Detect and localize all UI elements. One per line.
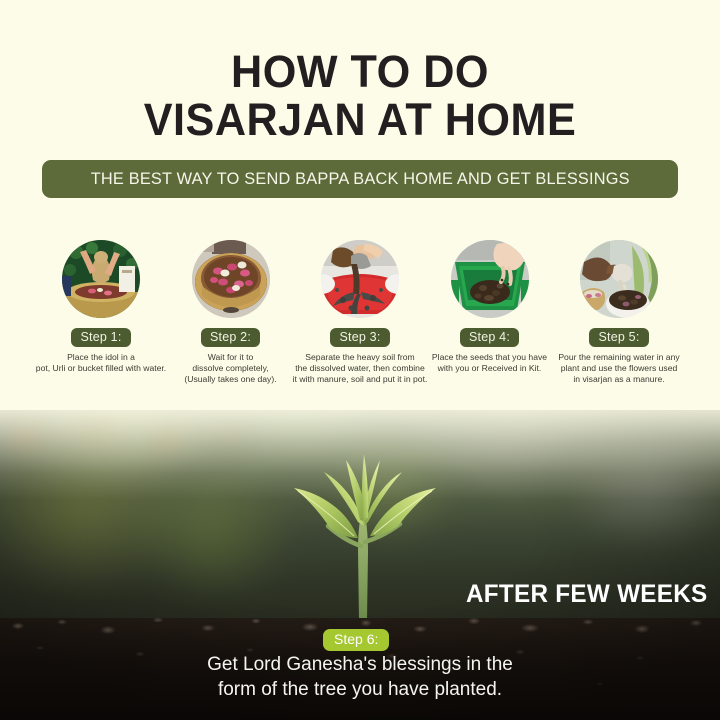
step-6-caption: Get Lord Ganesha's blessings in the form… — [0, 652, 720, 702]
step-4-photo — [451, 240, 529, 318]
step-5-caption-line-1: Pour the remaining water in any — [544, 352, 694, 363]
step-4-caption: Place the seeds that you have with you o… — [415, 352, 565, 374]
top-cream-section: HOW TO DO VISARJAN AT HOME THE BEST WAY … — [0, 0, 720, 410]
title-line-1: HOW TO DO — [14, 48, 705, 96]
step-1-caption: Place the idol in a pot, Urli or bucket … — [26, 352, 176, 374]
step-1-caption-line-1: Place the idol in a — [26, 352, 176, 363]
step-item-3: Step 3: Separate the heavy soil from the… — [299, 240, 421, 385]
step-5-caption: Pour the remaining water in any plant an… — [544, 352, 694, 385]
step-5-photo — [580, 240, 658, 318]
step-6-badge: Step 6: — [323, 629, 389, 651]
step-2-photo — [192, 240, 270, 318]
step-3-badge: Step 3: — [330, 328, 389, 347]
step-3-caption-line-3: it with manure, soil and put it in pot. — [280, 374, 440, 385]
step-item-5: Step 5: Pour the remaining water in any … — [558, 240, 680, 385]
step-3-photo — [321, 240, 399, 318]
step-5-caption-line-2: plant and use the flowers used — [544, 363, 694, 374]
subtitle-text: THE BEST WAY TO SEND BAPPA BACK HOME AND… — [90, 170, 629, 189]
step-4-caption-line-1: Place the seeds that you have — [415, 352, 565, 363]
step-6-caption-line-1: Get Lord Ganesha's blessings in the — [0, 652, 720, 677]
step-1-caption-line-2: pot, Urli or bucket filled with water. — [26, 363, 176, 374]
subtitle-banner: THE BEST WAY TO SEND BAPPA BACK HOME AND… — [42, 160, 678, 198]
step-6-caption-line-2: form of the tree you have planted. — [0, 677, 720, 702]
page-title: HOW TO DO VISARJAN AT HOME — [0, 48, 720, 144]
step-5-badge: Step 5: — [589, 328, 648, 347]
step-item-2: Step 2: Wait for it to dissolve complete… — [170, 240, 292, 385]
after-few-weeks-label: AFTER FEW WEEKS — [466, 580, 707, 609]
infographic-poster: HOW TO DO VISARJAN AT HOME THE BEST WAY … — [0, 0, 720, 720]
step-item-4: Step 4: Place the seeds that you have wi… — [429, 240, 551, 385]
steps-row: Step 1: Place the idol in a pot, Urli or… — [0, 240, 720, 385]
step-4-caption-line-2: with you or Received in Kit. — [415, 363, 565, 374]
step-item-1: Step 1: Place the idol in a pot, Urli or… — [40, 240, 162, 385]
title-line-2: VISARJAN AT HOME — [14, 96, 705, 144]
step-1-badge: Step 1: — [71, 328, 130, 347]
step-1-photo — [62, 240, 140, 318]
step-2-badge: Step 2: — [201, 328, 260, 347]
step-4-badge: Step 4: — [460, 328, 519, 347]
step-5-caption-line-3: in visarjan as a manure. — [544, 374, 694, 385]
